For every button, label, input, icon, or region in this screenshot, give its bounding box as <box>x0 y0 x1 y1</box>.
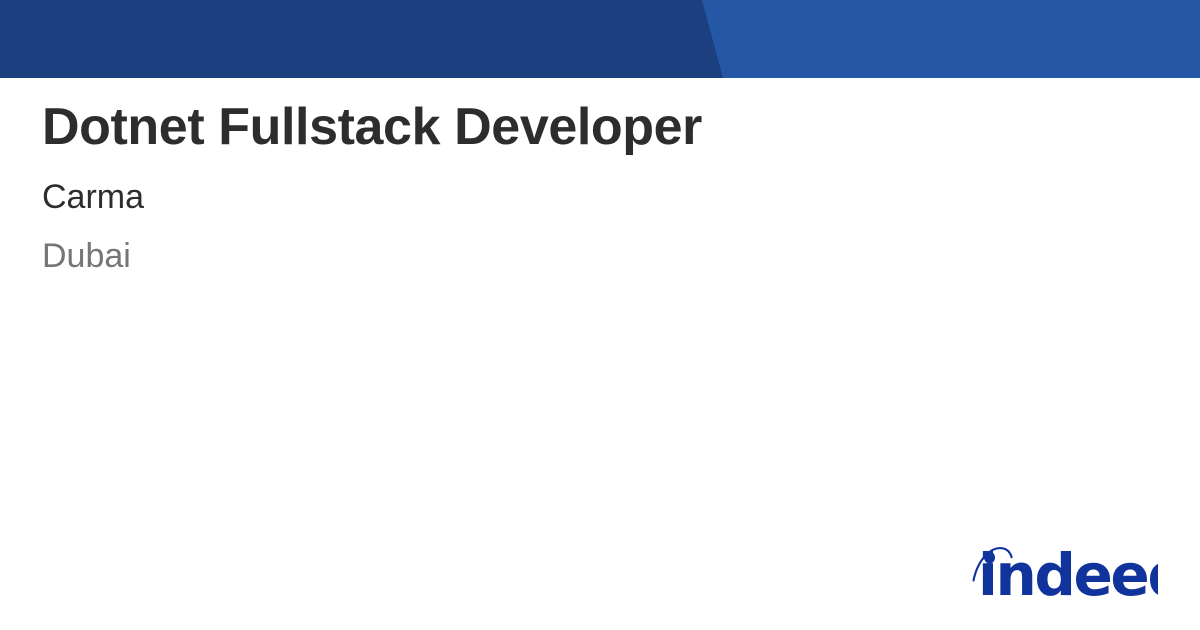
company-name: Carma <box>42 175 1152 219</box>
job-summary: Dotnet Fullstack Developer Carma Dubai <box>42 96 1152 278</box>
indeed-wordmark: indeed <box>978 541 1158 600</box>
top-banner <box>0 0 1200 78</box>
indeed-logo-svg: indeed <box>972 538 1158 600</box>
job-share-card: Dotnet Fullstack Developer Carma Dubai i… <box>0 0 1200 630</box>
indeed-logo: indeed <box>972 538 1158 600</box>
banner-shapes <box>0 0 1200 78</box>
banner-dark-blue-panel <box>0 0 723 78</box>
job-location: Dubai <box>42 234 1152 278</box>
page-title: Dotnet Fullstack Developer <box>42 96 1152 158</box>
